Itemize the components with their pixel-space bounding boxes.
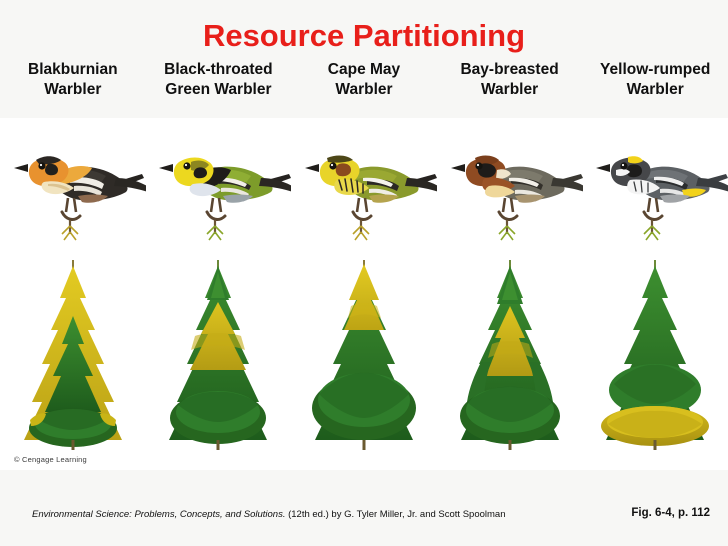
figure-footer: Environmental Science: Problems, Concept…: [0, 505, 728, 535]
tree-illustration-4: [582, 258, 728, 470]
species-column-0: [0, 118, 146, 470]
species-label-1-line2: Green Warbler: [147, 80, 291, 100]
species-label-2: Cape May Warbler: [291, 60, 437, 110]
source-details: (12th ed.) by G. Tyler Miller, Jr. and S…: [285, 509, 505, 520]
species-label-4: Yellow-rumped Warbler: [582, 60, 728, 110]
species-label-2-line1: Cape May: [328, 61, 400, 78]
species-label-1: Black-throated Green Warbler: [146, 60, 292, 110]
species-label-3: Bay-breasted Warbler: [437, 60, 583, 110]
species-columns: [0, 118, 728, 470]
tree-illustration-0: [0, 258, 146, 470]
species-column-4: [582, 118, 728, 470]
figure-reference: Fig. 6-4, p. 112: [631, 507, 710, 519]
species-label-4-line1: Yellow-rumped: [600, 61, 710, 78]
tree-illustration-1: [145, 258, 291, 470]
species-column-2: [291, 118, 437, 470]
illustration-panel: [0, 118, 728, 470]
figure-resource-partitioning: Resource Partitioning Blakburnian Warble…: [0, 0, 728, 546]
bird-illustration-blakburnian-warbler: [0, 126, 146, 244]
species-label-3-line2: Warbler: [438, 80, 582, 100]
species-label-2-line2: Warbler: [292, 80, 436, 100]
source-title: Environmental Science: Problems, Concept…: [32, 509, 285, 520]
tree-illustration-2: [291, 258, 437, 470]
species-label-1-line1: Black-throated: [164, 61, 273, 78]
species-label-row: Blakburnian Warbler Black-throated Green…: [0, 60, 728, 110]
species-label-0-line1: Blakburnian: [28, 61, 118, 78]
species-label-0-line2: Warbler: [1, 80, 145, 100]
bird-illustration-cape-may-warbler: [291, 126, 437, 244]
tree-illustration-3: [437, 258, 583, 470]
bird-illustration-bay-breasted-warbler: [437, 126, 583, 244]
copyright-notice: © Cengage Learning: [14, 455, 87, 464]
species-label-0: Blakburnian Warbler: [0, 60, 146, 110]
species-label-3-line1: Bay-breasted: [460, 61, 558, 78]
species-label-4-line2: Warbler: [583, 80, 727, 100]
bird-illustration-yellow-rumped-warbler: [582, 126, 728, 244]
bird-illustration-black-throated-green-warbler: [145, 126, 291, 244]
species-column-3: [437, 118, 583, 470]
source-citation: Environmental Science: Problems, Concept…: [32, 509, 505, 520]
species-column-1: [146, 118, 292, 470]
page-title: Resource Partitioning: [0, 20, 728, 53]
